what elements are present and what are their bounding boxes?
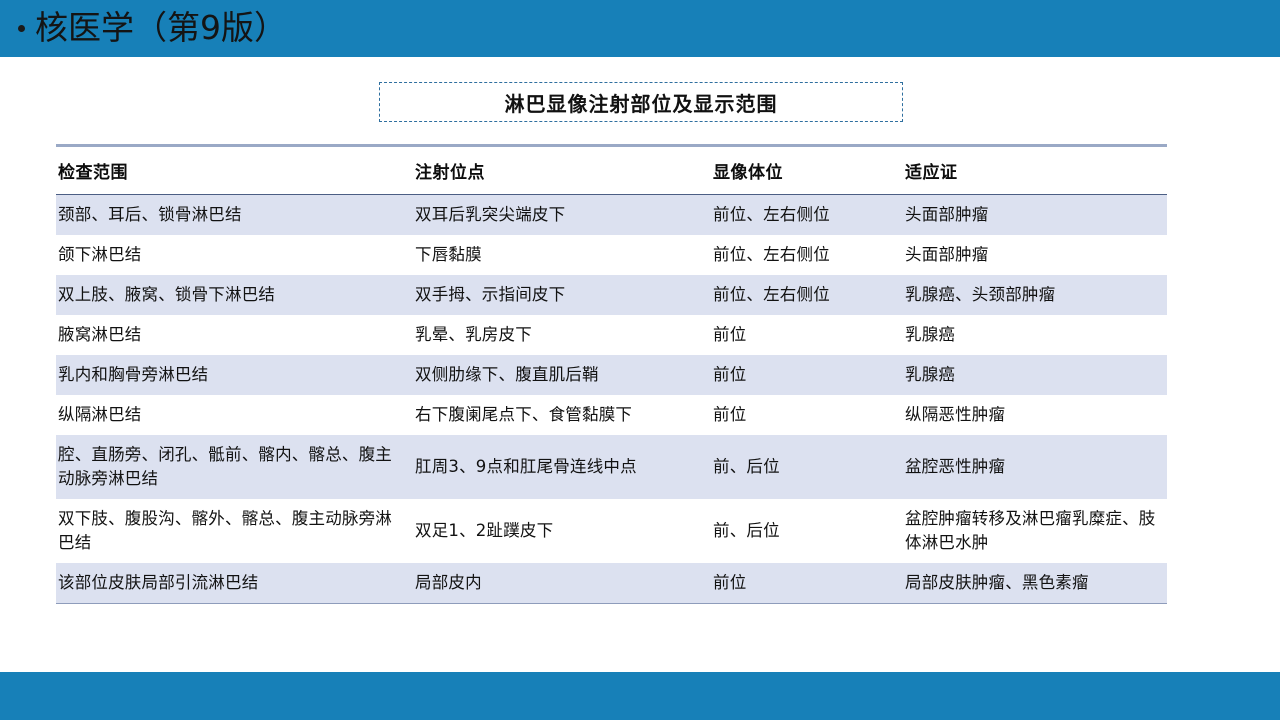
cell-indication: 乳腺癌 [903,355,1167,395]
cell-indication: 头面部肿瘤 [903,235,1167,275]
cell-scope: 颌下淋巴结 [56,235,413,275]
cell-indication: 盆腔恶性肿瘤 [903,435,1167,499]
cell-scope: 纵隔淋巴结 [56,395,413,435]
cell-scope: 双下肢、腹股沟、髂外、髂总、腹主动脉旁淋巴结 [56,499,413,563]
cell-site: 乳晕、乳房皮下 [413,315,711,355]
cell-site: 双耳后乳突尖端皮下 [413,195,711,236]
cell-site: 局部皮内 [413,563,711,604]
column-header-scope: 检查范围 [56,146,413,195]
slide-canvas: 核医学（第9版） 淋巴显像注射部位及显示范围 检查范围 注射位点 显像体位 适应… [0,0,1280,720]
cell-position: 前位 [711,315,903,355]
table-caption-box: 淋巴显像注射部位及显示范围 [379,82,903,122]
top-banner: 核医学（第9版） [0,0,1280,57]
table-row: 乳内和胸骨旁淋巴结 双侧肋缘下、腹直肌后鞘 前位 乳腺癌 [56,355,1167,395]
cell-indication: 局部皮肤肿瘤、黑色素瘤 [903,563,1167,604]
banner-title-row: 核医学（第9版） [18,2,287,54]
cell-position: 前位、左右侧位 [711,195,903,236]
column-header-position: 显像体位 [711,146,903,195]
cell-position: 前、后位 [711,435,903,499]
lymph-imaging-table: 检查范围 注射位点 显像体位 适应证 颈部、耳后、锁骨淋巴结 双耳后乳突尖端皮下… [56,144,1167,604]
cell-site: 肛周3、9点和肛尾骨连线中点 [413,435,711,499]
table-row: 纵隔淋巴结 右下腹阑尾点下、食管黏膜下 前位 纵隔恶性肿瘤 [56,395,1167,435]
cell-position: 前位 [711,395,903,435]
cell-site: 双足1、2趾蹼皮下 [413,499,711,563]
cell-site: 右下腹阑尾点下、食管黏膜下 [413,395,711,435]
table-row: 颌下淋巴结 下唇黏膜 前位、左右侧位 头面部肿瘤 [56,235,1167,275]
cell-position: 前位 [711,563,903,604]
table-row: 该部位皮肤局部引流淋巴结 局部皮内 前位 局部皮肤肿瘤、黑色素瘤 [56,563,1167,604]
cell-position: 前位、左右侧位 [711,275,903,315]
table-row: 双下肢、腹股沟、髂外、髂总、腹主动脉旁淋巴结 双足1、2趾蹼皮下 前、后位 盆腔… [56,499,1167,563]
cell-site: 下唇黏膜 [413,235,711,275]
cell-site: 双手拇、示指间皮下 [413,275,711,315]
lymph-table-wrapper: 检查范围 注射位点 显像体位 适应证 颈部、耳后、锁骨淋巴结 双耳后乳突尖端皮下… [56,144,1167,604]
cell-scope: 双上肢、腋窝、锁骨下淋巴结 [56,275,413,315]
cell-indication: 乳腺癌、头颈部肿瘤 [903,275,1167,315]
bullet-icon [18,25,25,32]
cell-indication: 乳腺癌 [903,315,1167,355]
cell-position: 前位、左右侧位 [711,235,903,275]
cell-indication: 纵隔恶性肿瘤 [903,395,1167,435]
table-header-row: 检查范围 注射位点 显像体位 适应证 [56,146,1167,195]
table-row: 颈部、耳后、锁骨淋巴结 双耳后乳突尖端皮下 前位、左右侧位 头面部肿瘤 [56,195,1167,236]
table-caption-text: 淋巴显像注射部位及显示范围 [505,88,778,117]
cell-indication: 头面部肿瘤 [903,195,1167,236]
cell-scope: 颈部、耳后、锁骨淋巴结 [56,195,413,236]
table-header: 检查范围 注射位点 显像体位 适应证 [56,146,1167,195]
column-header-site: 注射位点 [413,146,711,195]
table-row: 腔、直肠旁、闭孔、骶前、髂内、髂总、腹主动脉旁淋巴结 肛周3、9点和肛尾骨连线中… [56,435,1167,499]
table-body: 颈部、耳后、锁骨淋巴结 双耳后乳突尖端皮下 前位、左右侧位 头面部肿瘤 颌下淋巴… [56,195,1167,604]
cell-site: 双侧肋缘下、腹直肌后鞘 [413,355,711,395]
cell-scope: 乳内和胸骨旁淋巴结 [56,355,413,395]
cell-scope: 腋窝淋巴结 [56,315,413,355]
cell-indication: 盆腔肿瘤转移及淋巴瘤乳糜症、肢体淋巴水肿 [903,499,1167,563]
bottom-banner [0,672,1280,720]
cell-scope: 腔、直肠旁、闭孔、骶前、髂内、髂总、腹主动脉旁淋巴结 [56,435,413,499]
cell-scope: 该部位皮肤局部引流淋巴结 [56,563,413,604]
table-row: 双上肢、腋窝、锁骨下淋巴结 双手拇、示指间皮下 前位、左右侧位 乳腺癌、头颈部肿… [56,275,1167,315]
column-header-indication: 适应证 [903,146,1167,195]
page-title: 核医学（第9版） [35,9,287,47]
cell-position: 前、后位 [711,499,903,563]
table-row: 腋窝淋巴结 乳晕、乳房皮下 前位 乳腺癌 [56,315,1167,355]
cell-position: 前位 [711,355,903,395]
